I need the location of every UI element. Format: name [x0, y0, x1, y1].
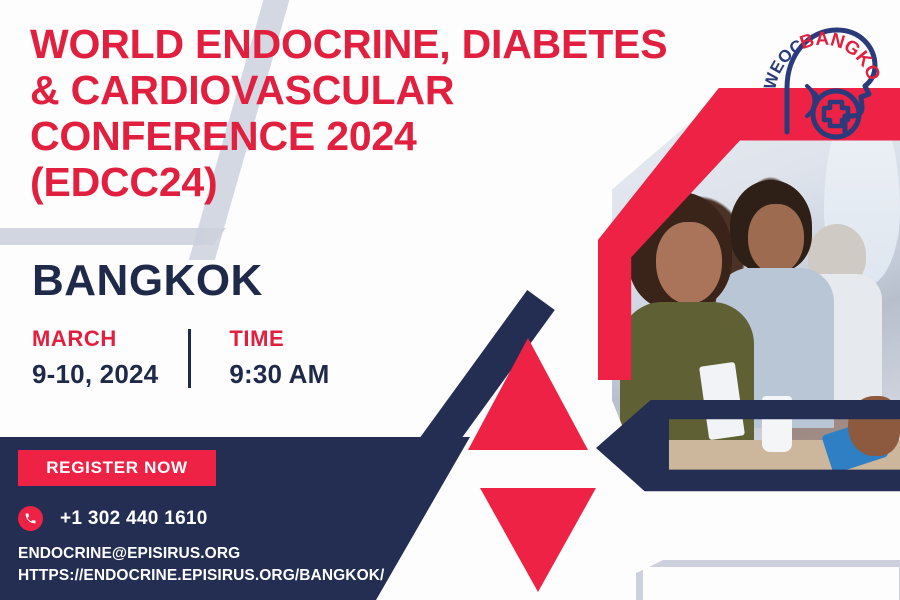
phone-icon	[18, 506, 43, 531]
triangle-up-shape	[468, 338, 588, 450]
email-address[interactable]: ENDOCRINE@EPISIRUS.ORG	[18, 543, 384, 565]
gray-outline-chevron	[636, 560, 900, 600]
phone-number[interactable]: +1 302 440 1610	[60, 508, 208, 530]
contact-links: ENDOCRINE@EPISIRUS.ORG HTTPS://ENDOCRINE…	[18, 543, 384, 587]
time-value: 9:30 AM	[229, 359, 329, 390]
register-now-button[interactable]: REGISTER NOW	[18, 450, 216, 486]
title-line-3: CONFERENCE 2024	[30, 114, 690, 160]
date-label: MARCH	[32, 326, 158, 352]
time-block: TIME 9:30 AM	[191, 326, 359, 390]
website-url[interactable]: HTTPS://ENDOCRINE.EPISIRUS.ORG/BANGKOK/	[18, 565, 384, 587]
time-label: TIME	[229, 326, 329, 352]
triangle-down-shape	[480, 488, 596, 592]
logo-text-weoc: WEOC	[760, 36, 806, 92]
photo-person-two-face	[748, 204, 804, 274]
svg-text:WEOC: WEOC	[760, 36, 806, 92]
city-name: BANGKOK	[32, 256, 263, 306]
page-title: WORLD ENDOCRINE, DIABETES & CARDIOVASCUL…	[30, 22, 690, 206]
background-gray-bar	[0, 228, 205, 245]
phone-row: +1 302 440 1610	[18, 506, 208, 531]
photo-person-one-face	[656, 222, 722, 304]
conference-banner: WORLD ENDOCRINE, DIABETES & CARDIOVASCUL…	[0, 0, 900, 600]
date-block: MARCH 9-10, 2024	[32, 326, 188, 390]
event-details: MARCH 9-10, 2024 TIME 9:30 AM	[32, 326, 359, 390]
date-value: 9-10, 2024	[32, 359, 158, 390]
title-line-1: WORLD ENDOCRINE, DIABETES	[30, 22, 690, 68]
title-line-4: (EDCC24)	[30, 160, 690, 206]
weoc-bangkok-logo: WEOC BANGKOK	[757, 4, 887, 144]
title-line-2: & CARDIOVASCULAR	[30, 68, 690, 114]
